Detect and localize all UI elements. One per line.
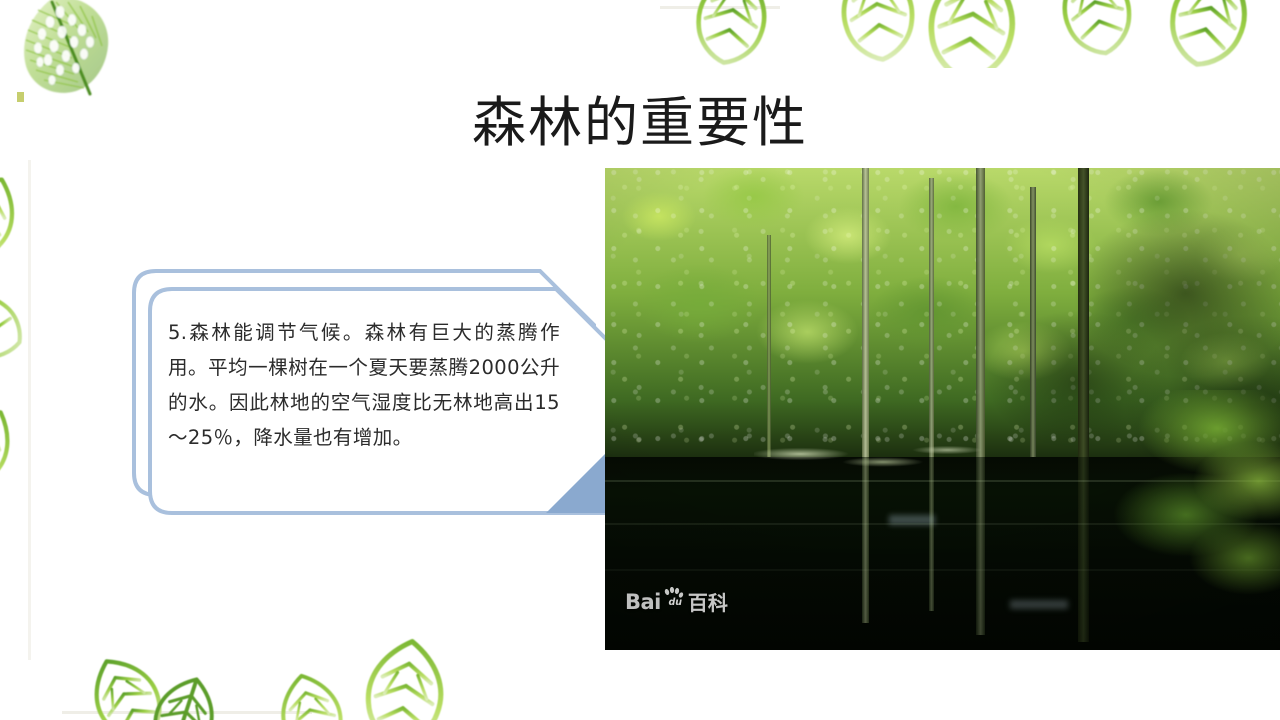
presentation-slide: 森林的重要性 5.森林能调节气候。森林有巨大的蒸腾作用。平均一棵树在一个夏天要蒸… [0,0,1280,720]
baidu-watermark: Bai du 百科 [625,587,728,616]
decorative-hairline-left [28,160,31,660]
decorative-hairline-bottom [62,711,312,714]
paw-print-icon: du [662,587,684,612]
watermark-middle: du [668,597,682,607]
photo-vignette [605,168,1280,650]
watermark-prefix: Bai [625,590,661,614]
callout-body-text: 5.森林能调节气候。森林有巨大的蒸腾作用。平均一棵树在一个夏天要蒸腾2000公升… [168,315,560,455]
skeleton-leaf-cluster-bottom [58,620,488,720]
skeleton-leaf-row-top [655,0,1280,68]
rainforest-photo: Bai du 百科 [605,168,1280,650]
skeleton-leaf-column-left [0,155,46,505]
callout-bubble: 5.森林能调节气候。森林有巨大的蒸腾作用。平均一棵树在一个夏天要蒸腾2000公升… [118,263,610,528]
decorative-hairline-top [660,6,780,9]
slide-title: 森林的重要性 [0,92,1280,154]
watermark-suffix: 百科 [688,587,728,616]
